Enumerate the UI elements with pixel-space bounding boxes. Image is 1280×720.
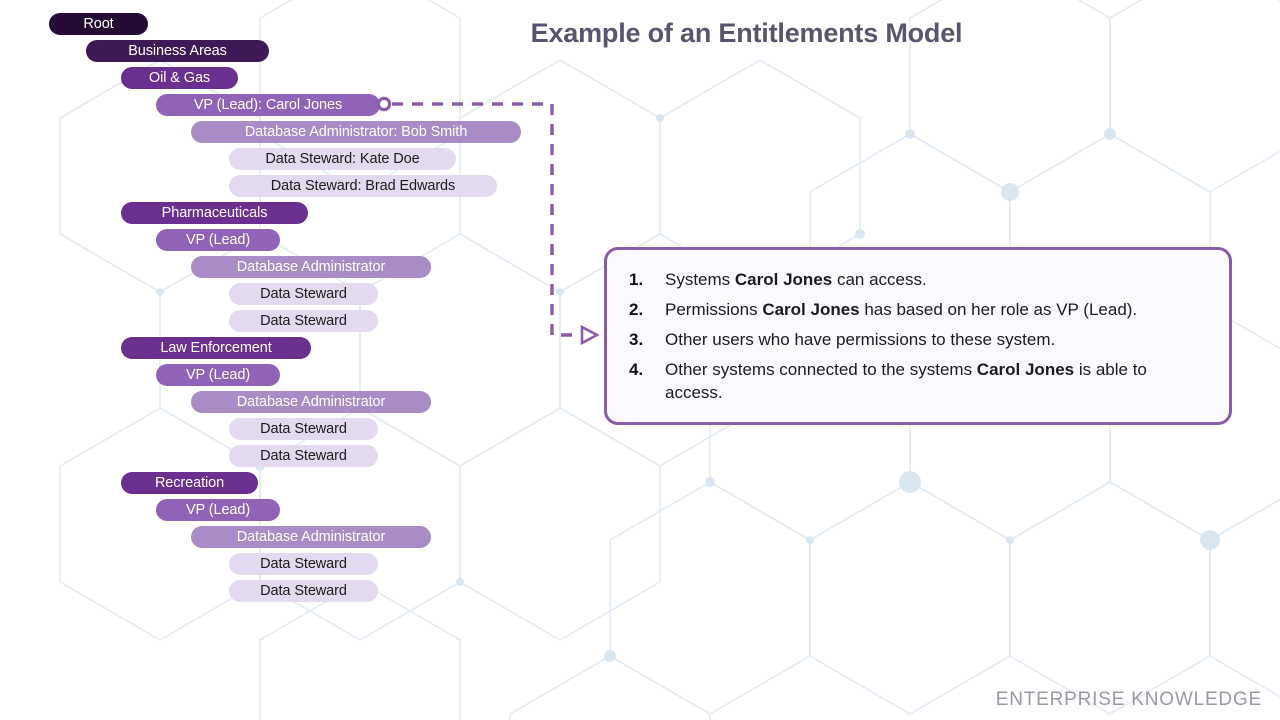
- tree-node[interactable]: Database Administrator: [191, 391, 431, 413]
- tree-node[interactable]: VP (Lead): Carol Jones: [156, 94, 380, 116]
- callout-list-item: 2.Permissions Carol Jones has based on h…: [629, 298, 1205, 321]
- tree-node[interactable]: Database Administrator: Bob Smith: [191, 121, 521, 143]
- tree-node[interactable]: Data Steward: Kate Doe: [229, 148, 456, 170]
- callout-item-text: Other users who have permissions to thes…: [665, 328, 1205, 351]
- tree-node[interactable]: Pharmaceuticals: [121, 202, 308, 224]
- callout-item-number: 1.: [629, 268, 665, 291]
- callout-item-number: 4.: [629, 358, 665, 381]
- tree-node[interactable]: Data Steward: [229, 418, 378, 440]
- tree-node[interactable]: Database Administrator: [191, 256, 431, 278]
- tree-node[interactable]: Recreation: [121, 472, 258, 494]
- tree-node[interactable]: Oil & Gas: [121, 67, 238, 89]
- callout-item-text: Systems Carol Jones can access.: [665, 268, 1205, 291]
- tree-node[interactable]: Database Administrator: [191, 526, 431, 548]
- footer-logo: ENTERPRISE KNOWLEDGE: [996, 689, 1262, 711]
- callout-item-text: Permissions Carol Jones has based on her…: [665, 298, 1205, 321]
- tree-node[interactable]: Business Areas: [86, 40, 269, 62]
- tree-node[interactable]: VP (Lead): [156, 364, 280, 386]
- callout-list-item: 4.Other systems connected to the systems…: [629, 358, 1205, 404]
- tree-node[interactable]: Law Enforcement: [121, 337, 311, 359]
- callout-item-number: 2.: [629, 298, 665, 321]
- callout-list-item: 3.Other users who have permissions to th…: [629, 328, 1205, 351]
- tree-node[interactable]: VP (Lead): [156, 229, 280, 251]
- callout-item-text: Other systems connected to the systems C…: [665, 358, 1205, 404]
- callout-list-item: 1.Systems Carol Jones can access.: [629, 268, 1205, 291]
- tree-node[interactable]: Root: [49, 13, 148, 35]
- tree-node[interactable]: Data Steward: [229, 553, 378, 575]
- tree-node[interactable]: Data Steward: Brad Edwards: [229, 175, 497, 197]
- tree-node[interactable]: Data Steward: [229, 580, 378, 602]
- tree-node[interactable]: VP (Lead): [156, 499, 280, 521]
- entitlements-tree: RootBusiness AreasOil & GasVP (Lead): Ca…: [0, 0, 620, 620]
- tree-node[interactable]: Data Steward: [229, 310, 378, 332]
- callout-box: 1.Systems Carol Jones can access.2.Permi…: [604, 247, 1232, 425]
- tree-node[interactable]: Data Steward: [229, 445, 378, 467]
- callout-item-number: 3.: [629, 328, 665, 351]
- tree-node[interactable]: Data Steward: [229, 283, 378, 305]
- slide-canvas: Example of an Entitlements Model RootBus…: [0, 0, 1280, 720]
